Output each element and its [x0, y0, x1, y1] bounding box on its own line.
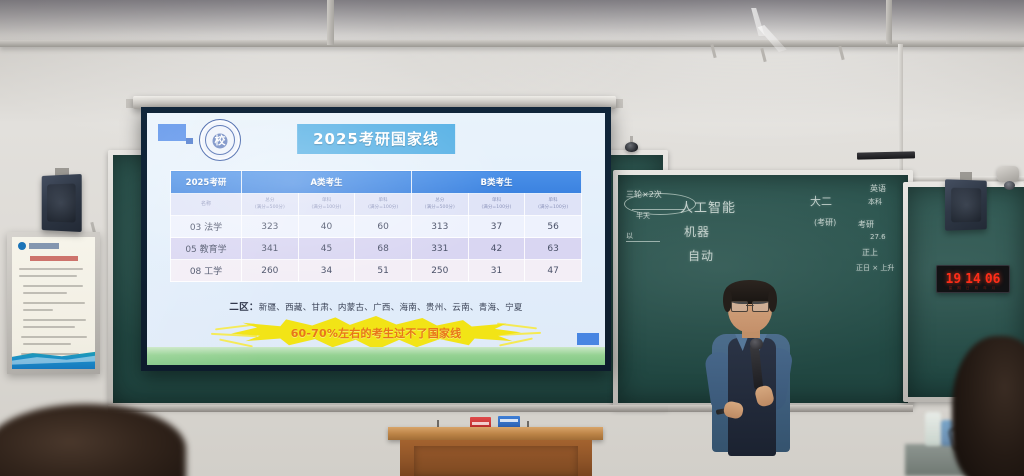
row-2-b-sub1: 31 [468, 260, 525, 282]
ceiling-beam-horizontal [0, 40, 1024, 47]
table-row: 08 工学 260 34 51 250 31 47 [171, 260, 582, 282]
row-0-name: 03 法学 [171, 216, 242, 238]
row-0-a-sub2: 60 [355, 216, 412, 238]
slide-bottom-strip [147, 347, 605, 365]
sub-header-name: 名称 [171, 194, 242, 216]
presentation-slide: 校 2025考研国家线 2025考研 A类考生 B类考生 名称 总分(满分=50… [147, 113, 605, 365]
row-1-a-sub2: 68 [355, 238, 412, 260]
speaker-at-podium [690, 282, 812, 476]
presenter-glasses-icon [731, 301, 769, 310]
chalk-underline-2 [626, 241, 660, 242]
chalk-tray-left [108, 405, 668, 412]
clock-minutes: 14 [965, 272, 981, 287]
region-note: 二区：新疆、西藏、甘肃、内蒙古、广西、海南、贵州、云南、青海、宁夏 [147, 299, 605, 313]
chalk-note-13: 正日 × 上升 [856, 263, 894, 273]
chalk-note-1: 半天 [636, 211, 650, 221]
poster-institution-name [29, 243, 71, 249]
lectern-front-panel [414, 446, 578, 476]
presenter-hair-side-right [768, 288, 777, 312]
water-bottle-1 [925, 412, 941, 446]
row-1-b-total: 331 [411, 238, 468, 260]
chalk-note-8: 英语 [870, 183, 886, 194]
row-0-a-total: 323 [242, 216, 299, 238]
sub-header-a-sub1: 单科(满分=100分) [298, 194, 355, 216]
sub-header-a-total: 总分(满分=500分) [242, 194, 299, 216]
group-header-type-a: A类考生 [242, 171, 412, 194]
ceiling-beam-vertical-left [327, 0, 334, 45]
sub-header-b-sub1: 单科(满分=100分) [468, 194, 525, 216]
wall-speaker-right [945, 179, 987, 230]
row-2-a-sub2: 51 [355, 260, 412, 282]
sub-header-b-total: 总分(满分=500分) [411, 194, 468, 216]
poster-title-bar [30, 256, 78, 261]
chalk-note-12: 正上 [862, 247, 878, 258]
wall-notice-poster [7, 232, 100, 374]
clock-hours: 19 [946, 272, 962, 287]
chalk-note-7: (考研) [814, 217, 836, 228]
row-1-b-sub2: 63 [525, 238, 582, 260]
lectern-top [388, 427, 603, 440]
callout-text: 60-70%左右的考生过不了国家线 [231, 316, 521, 350]
chalk-note-11: 27.6 [870, 233, 886, 241]
row-2-b-total: 250 [411, 260, 468, 282]
poster-logo-icon [18, 242, 26, 250]
group-header-exam: 2025考研 [171, 171, 242, 194]
row-0-b-sub1: 37 [468, 216, 525, 238]
row-2-b-sub2: 47 [525, 260, 582, 282]
table-row: 03 法学 323 40 60 313 37 56 [171, 216, 582, 238]
clock-sub-labels: 星 期 日 期 年 月 [937, 286, 1009, 291]
chalk-note-2: 以 [626, 231, 633, 241]
wall-mounted-light-bar [857, 151, 915, 159]
row-1-a-sub1: 45 [298, 238, 355, 260]
chalk-note-10: 考研 [858, 219, 874, 230]
national-score-line-table: 2025考研 A类考生 B类考生 名称 总分(满分=500分) 单科(满分=10… [170, 170, 582, 282]
chalk-note-3: 人工智能 [680, 197, 736, 216]
chalk-note-6: 大二 [810, 193, 832, 209]
slide-title: 2025考研国家线 [297, 124, 455, 154]
logo-mark-text: 校 [215, 132, 226, 148]
region-label: 二区： [229, 302, 258, 313]
chalk-note-0: 三轮×2次 [626, 189, 662, 200]
row-2-a-total: 260 [242, 260, 299, 282]
row-1-a-total: 341 [242, 238, 299, 260]
slide-corner-square [577, 333, 599, 345]
microphone-head [750, 338, 763, 350]
row-1-name: 05 教育学 [171, 238, 242, 260]
row-0-b-total: 313 [411, 216, 468, 238]
row-2-a-sub1: 34 [298, 260, 355, 282]
row-2-name: 08 工学 [171, 260, 242, 282]
table-sub-header-row: 名称 总分(满分=500分) 单科(满分=100分) 单科(满分=100分) 总… [171, 194, 582, 216]
table-group-header-row: 2025考研 A类考生 B类考生 [171, 171, 582, 194]
sub-header-b-sub2: 单科(满分=100分) [525, 194, 582, 216]
university-seal-logo: 校 [199, 119, 241, 161]
dome-camera-icon [625, 142, 638, 152]
slide-decor-square-a [158, 124, 186, 141]
slide-decor-square-b [186, 138, 193, 144]
callout-starburst: 60-70%左右的考生过不了国家线 [231, 316, 521, 350]
poster-sheet [12, 237, 95, 369]
row-0-a-sub1: 40 [298, 216, 355, 238]
digital-wall-clock: 19 14 06 星 期 日 期 年 月 [936, 265, 1010, 293]
chalk-note-5: 自动 [688, 247, 714, 264]
chalk-note-9: 本科 [868, 197, 882, 207]
wall-speaker-left [42, 174, 82, 232]
sub-header-a-sub2: 单科(满分=100分) [355, 194, 412, 216]
corner-camera-lens-icon [1004, 181, 1015, 190]
ceiling-beam-vertical-right [886, 0, 892, 44]
region-list: 新疆、西藏、甘肃、内蒙古、广西、海南、贵州、云南、青海、宁夏 [259, 303, 523, 313]
clock-seconds: 06 [985, 272, 1001, 287]
table-row: 05 教育学 341 45 68 331 42 63 [171, 238, 582, 260]
chalk-note-4: 机器 [684, 223, 710, 240]
row-0-b-sub2: 56 [525, 216, 582, 238]
row-1-b-sub1: 42 [468, 238, 525, 260]
corner-camera-housing [997, 166, 1019, 182]
group-header-type-b: B类考生 [411, 171, 581, 194]
classroom-scene: 三轮×2次 半天 以 人工智能 机器 自动 大二 (考研) 英语 本科 考研 2… [0, 0, 1024, 476]
projection-screen[interactable]: 校 2025考研国家线 2025考研 A类考生 B类考生 名称 总分(满分=50… [147, 113, 605, 365]
